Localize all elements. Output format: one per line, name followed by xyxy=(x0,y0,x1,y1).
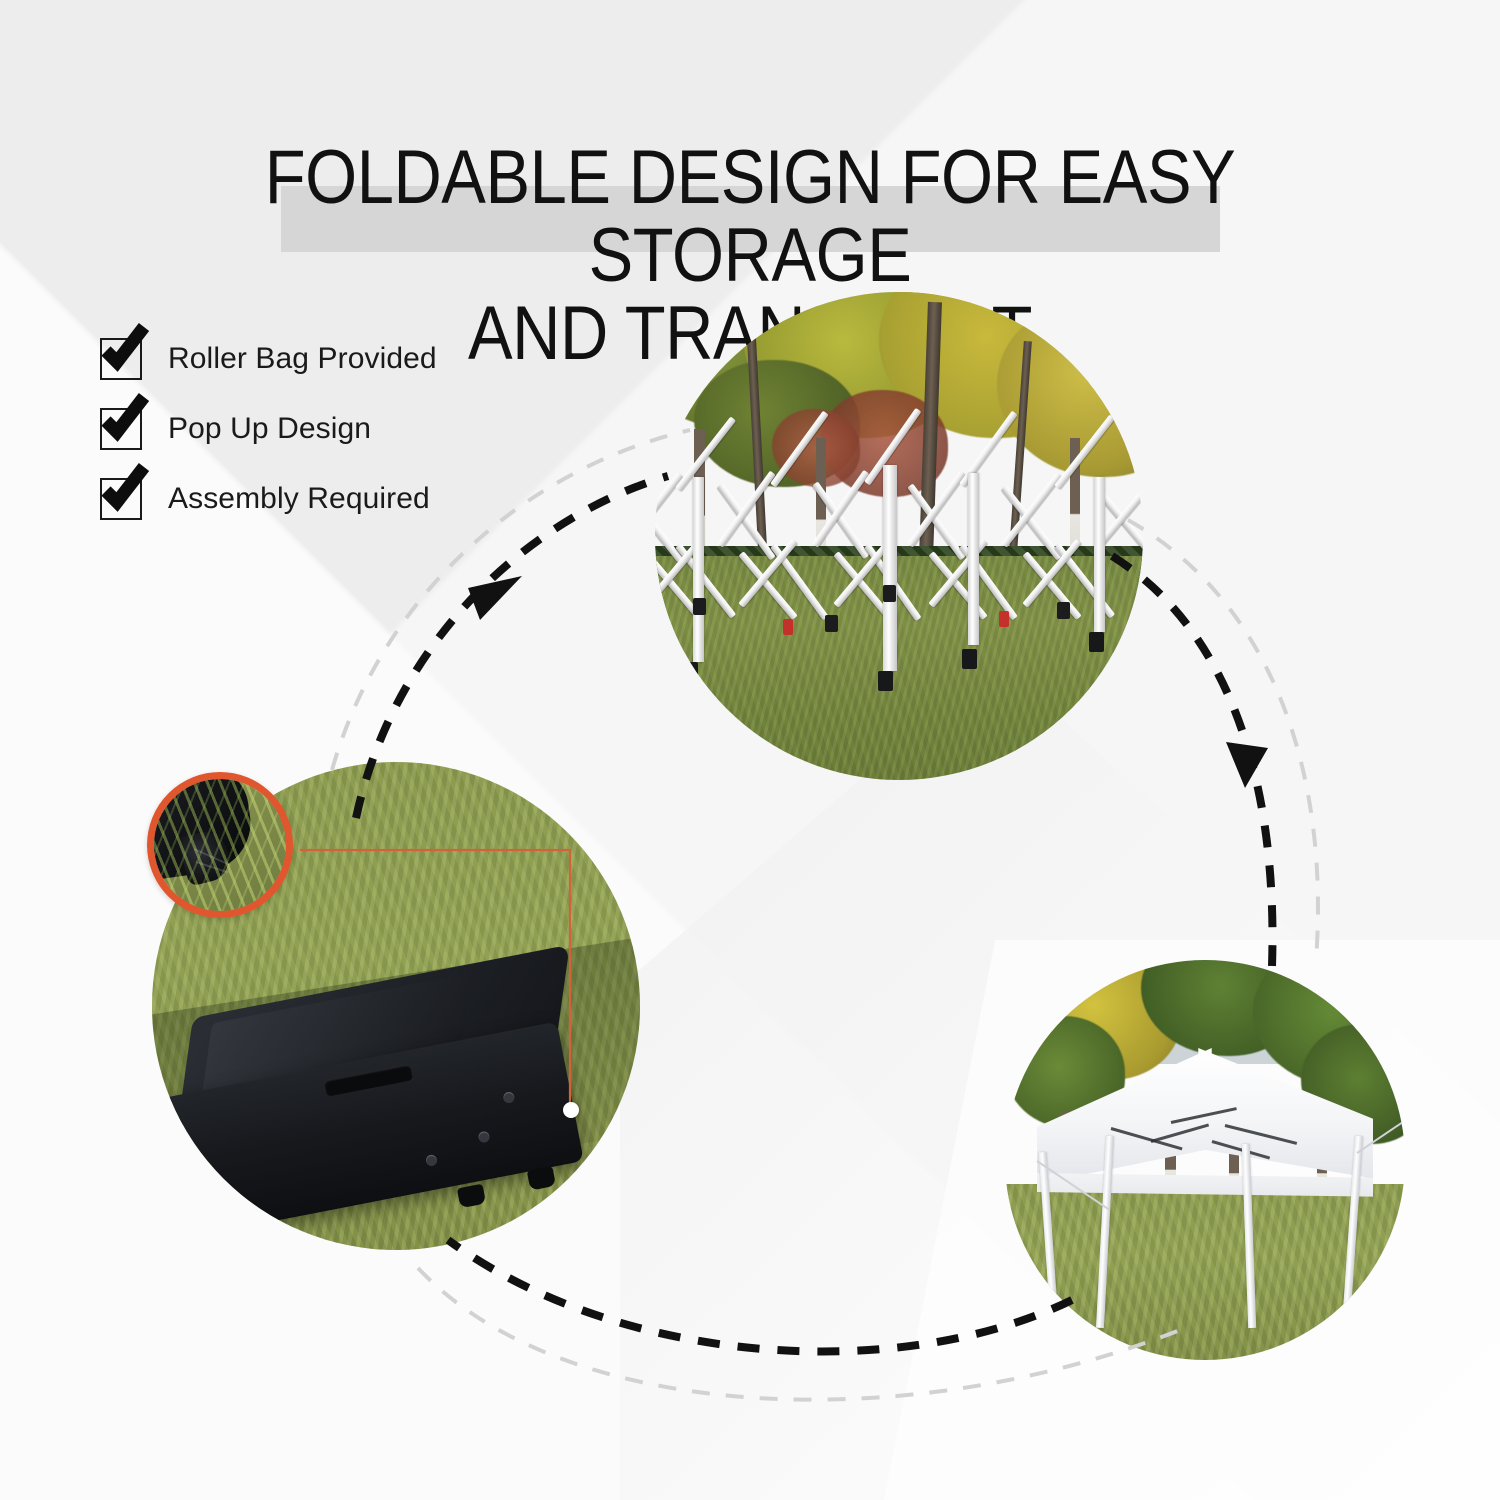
feature-item-assembly-required: Assembly Required xyxy=(100,470,560,528)
feature-label: Assembly Required xyxy=(168,482,430,516)
checkbox-checked-icon xyxy=(100,408,142,450)
feature-label: Roller Bag Provided xyxy=(168,342,437,376)
feature-label: Pop Up Design xyxy=(168,412,371,446)
wheel-detail-magnifier xyxy=(147,772,293,918)
infographic-root: FOLDABLE DESIGN FOR EASY STORAGE AND TRA… xyxy=(0,0,1500,1500)
magnifier-target-marker xyxy=(563,1102,579,1118)
scene-assembled-canopy xyxy=(1005,960,1405,1360)
feature-list: Roller Bag Provided Pop Up Design Assemb… xyxy=(100,330,560,540)
checkbox-checked-icon xyxy=(100,478,142,520)
photo-folded-frame xyxy=(655,292,1143,780)
canopy-assembled-object xyxy=(1037,1048,1373,1184)
feature-item-roller-bag: Roller Bag Provided xyxy=(100,330,560,388)
checkbox-checked-icon xyxy=(100,338,142,380)
canopy-frame-folded xyxy=(655,477,1143,692)
feature-item-pop-up-design: Pop Up Design xyxy=(100,400,560,458)
scene-folded-frame xyxy=(655,292,1143,780)
photo-assembled-canopy xyxy=(1005,960,1405,1360)
